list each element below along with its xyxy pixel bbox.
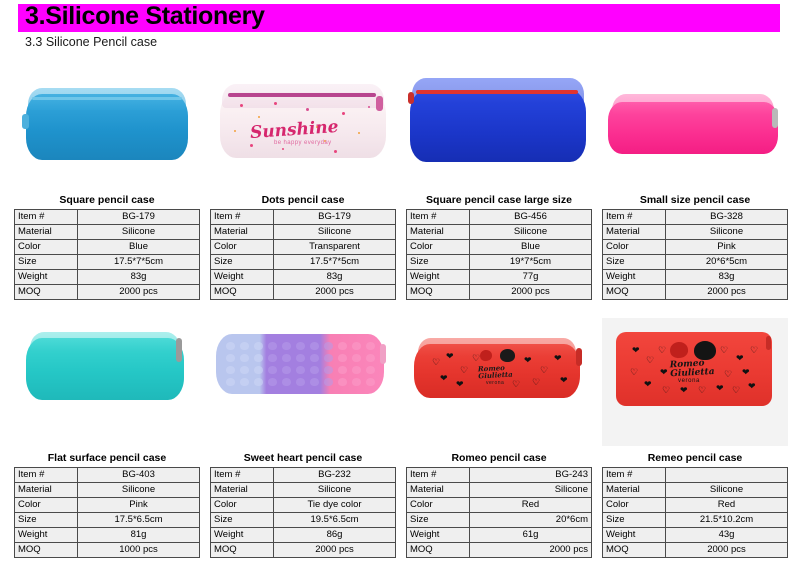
label-weight: Weight xyxy=(211,528,274,543)
value-material: Silicone xyxy=(274,483,396,498)
table-row: MaterialSilicone xyxy=(407,225,592,240)
value-material: Silicone xyxy=(666,483,788,498)
table-row: Item #BG-179 xyxy=(211,210,396,225)
value-weight: 83g xyxy=(78,270,200,285)
label-size: Size xyxy=(407,513,470,528)
label-item: Item # xyxy=(211,468,274,483)
table-row: MOQ1000 pcs xyxy=(15,543,200,558)
table-row: MOQ2000 pcs xyxy=(211,285,396,300)
table-row: Size17.5*7*5cm xyxy=(211,255,396,270)
spec-table-4: Item #BG-403 MaterialSilicone ColorPink … xyxy=(14,467,200,558)
value-weight: 77g xyxy=(470,270,592,285)
value-weight: 83g xyxy=(274,270,396,285)
value-material: Silicone xyxy=(274,225,396,240)
table-row: Weight77g xyxy=(407,270,592,285)
label-color: Color xyxy=(211,240,274,255)
label-size: Size xyxy=(211,513,274,528)
spec-table-7: Item # MaterialSilicone ColorRed Size21.… xyxy=(602,467,788,558)
value-size: 17.5*7*5cm xyxy=(78,255,200,270)
table-row: MOQ2000 pcs xyxy=(407,285,592,300)
value-weight: 86g xyxy=(274,528,396,543)
value-weight: 83g xyxy=(666,270,788,285)
label-color: Color xyxy=(603,498,666,513)
product-title-3: Small size pencil case xyxy=(602,194,788,207)
table-row: Size20*6cm xyxy=(407,513,592,528)
value-color: Red xyxy=(666,498,788,513)
value-moq: 2000 pcs xyxy=(274,285,396,300)
value-size: 19.5*6.5cm xyxy=(274,513,396,528)
photo-caption-romeo: Romeo Giulietta xyxy=(478,363,533,380)
value-item: BG-179 xyxy=(78,210,200,225)
value-size: 17.5*7*5cm xyxy=(274,255,396,270)
label-moq: MOQ xyxy=(407,285,470,300)
value-color: Pink xyxy=(666,240,788,255)
page-subtitle: 3.3 Silicone Pencil case xyxy=(25,34,157,50)
table-row: MOQ2000 pcs xyxy=(603,285,788,300)
product-photo-dots-pencil-case: Sunshine be happy everyday xyxy=(210,60,396,188)
table-row: Item #BG-232 xyxy=(211,468,396,483)
label-weight: Weight xyxy=(15,528,78,543)
label-moq: MOQ xyxy=(407,543,470,558)
label-weight: Weight xyxy=(407,528,470,543)
table-row: ColorTie dye color xyxy=(211,498,396,513)
value-moq: 2000 pcs xyxy=(470,285,592,300)
value-color: Pink xyxy=(78,498,200,513)
page-title: 3.Silicone Stationery xyxy=(25,2,265,30)
product-title-1: Dots pencil case xyxy=(210,194,396,207)
table-row: Size17.5*7*5cm xyxy=(15,255,200,270)
product-photo-romeo-pencil-case: ♡ ❤ ♡ ❤ ♡ ❤ ♡ ❤ ♡ ❤ ♡ ❤ Romeo Giulietta … xyxy=(406,318,592,446)
table-row: ColorPink xyxy=(15,498,200,513)
photo-caption-remeo: Romeo Giulietta xyxy=(670,359,721,380)
label-size: Size xyxy=(603,255,666,270)
label-item: Item # xyxy=(15,468,78,483)
product-title-2: Square pencil case large size xyxy=(406,194,592,207)
value-moq: 2000 pcs xyxy=(78,285,200,300)
label-moq: MOQ xyxy=(603,543,666,558)
label-item: Item # xyxy=(211,210,274,225)
product-title-4: Flat surface pencil case xyxy=(14,452,200,465)
label-item: Item # xyxy=(603,210,666,225)
product-photo-sweet-heart-pencil-case xyxy=(210,318,396,446)
value-size: 20*6cm xyxy=(470,513,592,528)
value-color: Transparent xyxy=(274,240,396,255)
spec-table-5: Item #BG-232 MaterialSilicone ColorTie d… xyxy=(210,467,396,558)
table-row: Size17.5*6.5cm xyxy=(15,513,200,528)
label-moq: MOQ xyxy=(211,543,274,558)
spec-table-2: Item #BG-456 MaterialSilicone ColorBlue … xyxy=(406,209,592,300)
table-row: Item #BG-179 xyxy=(15,210,200,225)
value-item xyxy=(666,468,788,483)
value-material: Silicone xyxy=(470,225,592,240)
label-material: Material xyxy=(15,483,78,498)
label-moq: MOQ xyxy=(15,543,78,558)
value-item: BG-179 xyxy=(274,210,396,225)
value-weight: 81g xyxy=(78,528,200,543)
value-weight: 61g xyxy=(470,528,592,543)
product-photo-flat-surface-pencil-case xyxy=(14,318,200,446)
table-row: MaterialSilicone xyxy=(407,483,592,498)
label-weight: Weight xyxy=(407,270,470,285)
value-color: Blue xyxy=(78,240,200,255)
label-material: Material xyxy=(603,225,666,240)
product-photo-square-pencil-case xyxy=(14,60,200,188)
label-item: Item # xyxy=(407,468,470,483)
value-size: 20*6*5cm xyxy=(666,255,788,270)
label-color: Color xyxy=(407,240,470,255)
photo-subcaption-remeo: verona xyxy=(678,378,700,384)
table-row: MaterialSilicone xyxy=(211,483,396,498)
table-row: Size21.5*10.2cm xyxy=(603,513,788,528)
photo-subcaption-romeo: verona xyxy=(486,380,504,386)
label-moq: MOQ xyxy=(211,285,274,300)
table-row: MaterialSilicone xyxy=(15,483,200,498)
product-photo-remeo-pencil-case: ❤ ♡ ♡ ❤ ♡ ❤ ♡ ❤ ♡ ❤ ♡ ❤ ♡ ❤ ♡ ❤ ♡ Romeo … xyxy=(602,318,788,446)
table-row: ColorTransparent xyxy=(211,240,396,255)
table-row: MOQ2000 pcs xyxy=(211,543,396,558)
product-photo-small-size-pencil-case xyxy=(602,60,788,188)
label-size: Size xyxy=(15,255,78,270)
label-item: Item # xyxy=(603,468,666,483)
table-row: Weight61g xyxy=(407,528,592,543)
table-row: MaterialSilicone xyxy=(603,483,788,498)
label-material: Material xyxy=(407,483,470,498)
table-row: Weight83g xyxy=(15,270,200,285)
table-row: MOQ2000 pcs xyxy=(603,543,788,558)
table-row: Size19.5*6.5cm xyxy=(211,513,396,528)
table-row: Item #BG-243 xyxy=(407,468,592,483)
label-weight: Weight xyxy=(603,528,666,543)
table-row: Weight43g xyxy=(603,528,788,543)
value-size: 21.5*10.2cm xyxy=(666,513,788,528)
product-title-6: Romeo pencil case xyxy=(406,452,592,465)
label-item: Item # xyxy=(407,210,470,225)
table-row: Item #BG-328 xyxy=(603,210,788,225)
label-color: Color xyxy=(603,240,666,255)
value-moq: 1000 pcs xyxy=(78,543,200,558)
value-moq: 2000 pcs xyxy=(470,543,592,558)
spec-table-0: Item #BG-179 MaterialSilicone ColorBlue … xyxy=(14,209,200,300)
value-item: BG-232 xyxy=(274,468,396,483)
table-row: Size19*7*5cm xyxy=(407,255,592,270)
label-material: Material xyxy=(211,483,274,498)
spec-table-3: Item #BG-328 MaterialSilicone ColorPink … xyxy=(602,209,788,300)
value-size: 17.5*6.5cm xyxy=(78,513,200,528)
table-row: MOQ2000 pcs xyxy=(407,543,592,558)
label-item: Item # xyxy=(15,210,78,225)
table-row: MOQ2000 pcs xyxy=(15,285,200,300)
table-row: MaterialSilicone xyxy=(603,225,788,240)
value-material: Silicone xyxy=(470,483,592,498)
label-size: Size xyxy=(15,513,78,528)
label-size: Size xyxy=(603,513,666,528)
value-moq: 2000 pcs xyxy=(666,543,788,558)
value-color: Tie dye color xyxy=(274,498,396,513)
label-material: Material xyxy=(211,225,274,240)
label-size: Size xyxy=(407,255,470,270)
label-weight: Weight xyxy=(603,270,666,285)
photo-subcaption-sunshine: be happy everyday xyxy=(274,140,332,146)
value-moq: 2000 pcs xyxy=(666,285,788,300)
label-color: Color xyxy=(407,498,470,513)
spec-table-1: Item #BG-179 MaterialSilicone ColorTrans… xyxy=(210,209,396,300)
product-title-0: Square pencil case xyxy=(14,194,200,207)
label-size: Size xyxy=(211,255,274,270)
label-material: Material xyxy=(407,225,470,240)
label-moq: MOQ xyxy=(603,285,666,300)
label-moq: MOQ xyxy=(15,285,78,300)
value-moq: 2000 pcs xyxy=(274,543,396,558)
value-item: BG-403 xyxy=(78,468,200,483)
label-material: Material xyxy=(15,225,78,240)
label-color: Color xyxy=(211,498,274,513)
label-material: Material xyxy=(603,483,666,498)
label-weight: Weight xyxy=(15,270,78,285)
label-weight: Weight xyxy=(211,270,274,285)
product-title-7: Remeo pencil case xyxy=(602,452,788,465)
value-weight: 43g xyxy=(666,528,788,543)
value-item: BG-456 xyxy=(470,210,592,225)
table-row: Weight86g xyxy=(211,528,396,543)
label-color: Color xyxy=(15,240,78,255)
value-material: Silicone xyxy=(78,483,200,498)
table-row: ColorRed xyxy=(603,498,788,513)
value-item: BG-328 xyxy=(666,210,788,225)
value-size: 19*7*5cm xyxy=(470,255,592,270)
value-color: Red xyxy=(470,498,592,513)
table-row: ColorBlue xyxy=(407,240,592,255)
product-photo-square-large-pencil-case xyxy=(406,60,592,188)
table-row: ColorRed xyxy=(407,498,592,513)
product-title-5: Sweet heart pencil case xyxy=(210,452,396,465)
table-row: Weight81g xyxy=(15,528,200,543)
table-row: Weight83g xyxy=(211,270,396,285)
spec-table-6: Item #BG-243 MaterialSilicone ColorRed S… xyxy=(406,467,592,558)
table-row: ColorBlue xyxy=(15,240,200,255)
table-row: Item #BG-403 xyxy=(15,468,200,483)
value-material: Silicone xyxy=(666,225,788,240)
table-row: Weight83g xyxy=(603,270,788,285)
value-material: Silicone xyxy=(78,225,200,240)
table-row: Item # xyxy=(603,468,788,483)
table-row: MaterialSilicone xyxy=(211,225,396,240)
value-color: Blue xyxy=(470,240,592,255)
table-row: Item #BG-456 xyxy=(407,210,592,225)
table-row: ColorPink xyxy=(603,240,788,255)
table-row: Size20*6*5cm xyxy=(603,255,788,270)
label-color: Color xyxy=(15,498,78,513)
value-item: BG-243 xyxy=(470,468,592,483)
table-row: MaterialSilicone xyxy=(15,225,200,240)
